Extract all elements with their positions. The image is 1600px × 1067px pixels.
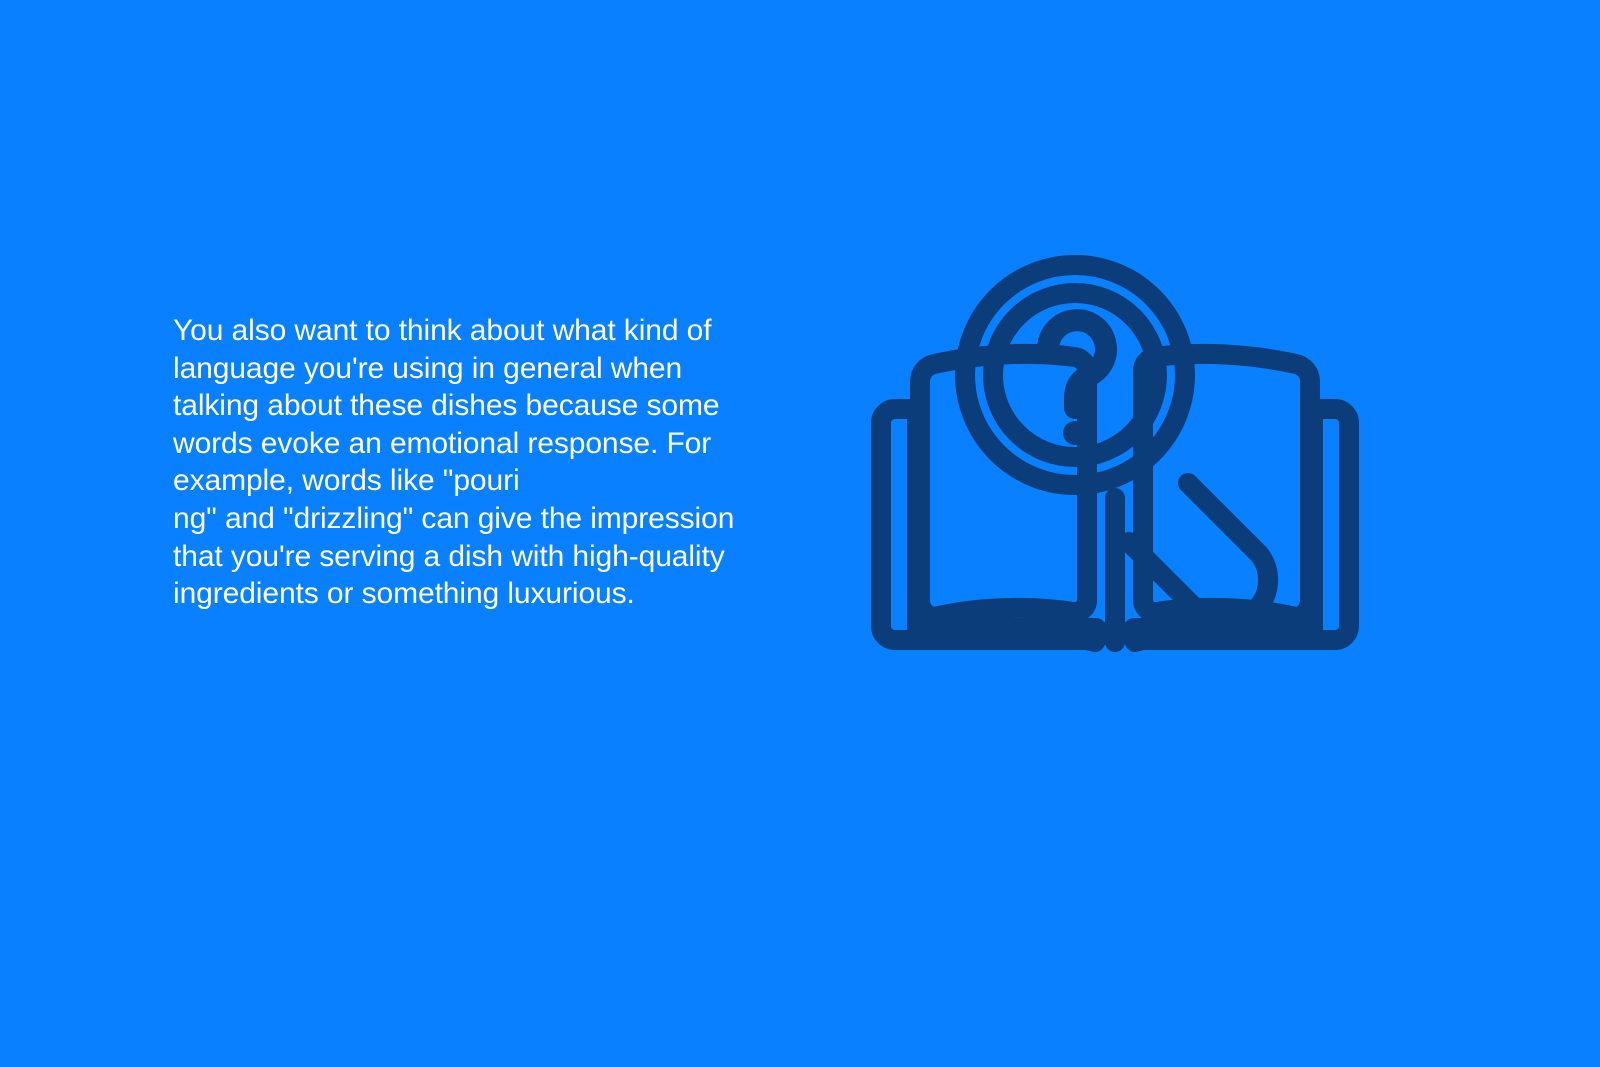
book-pages xyxy=(920,354,1310,642)
illustration-svg xyxy=(858,228,1372,678)
open-book-magnifier-question-icon xyxy=(858,228,1372,678)
question-mark-dot xyxy=(1063,421,1087,445)
slide-body-text: You also want to think about what kind o… xyxy=(173,312,773,613)
question-mark-icon xyxy=(1048,320,1106,445)
slide-canvas: You also want to think about what kind o… xyxy=(0,0,1600,1067)
